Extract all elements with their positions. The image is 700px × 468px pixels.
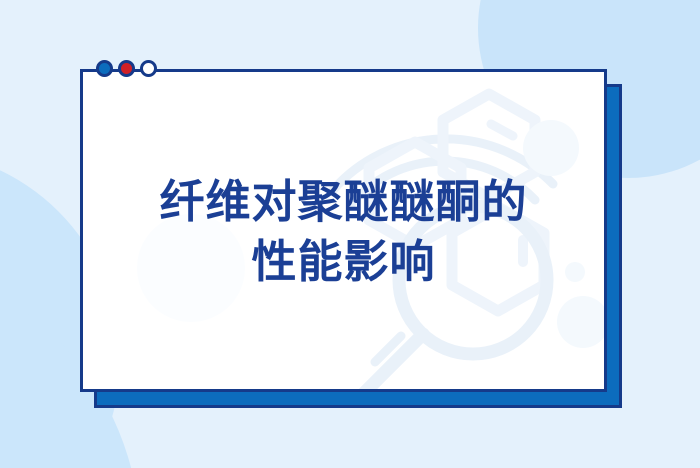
dot-red-icon[interactable] (118, 60, 135, 77)
dot-blue-icon[interactable] (96, 60, 113, 77)
page-title: 纤维对聚醚醚酮的 性能影响 (83, 172, 604, 292)
accent-circle-small-icon (557, 296, 604, 348)
dot-white-icon[interactable] (140, 60, 157, 77)
hexagon-molecule-upper-highlight-icon (491, 124, 513, 136)
accent-circle-large-icon (523, 120, 579, 176)
magnifier-handle-highlight-icon (375, 336, 401, 362)
title-card: 纤维对聚醚醚酮的 性能影响 (80, 69, 607, 392)
poster-canvas: 纤维对聚醚醚酮的 性能影响 (0, 0, 700, 468)
window-dots (96, 60, 157, 77)
